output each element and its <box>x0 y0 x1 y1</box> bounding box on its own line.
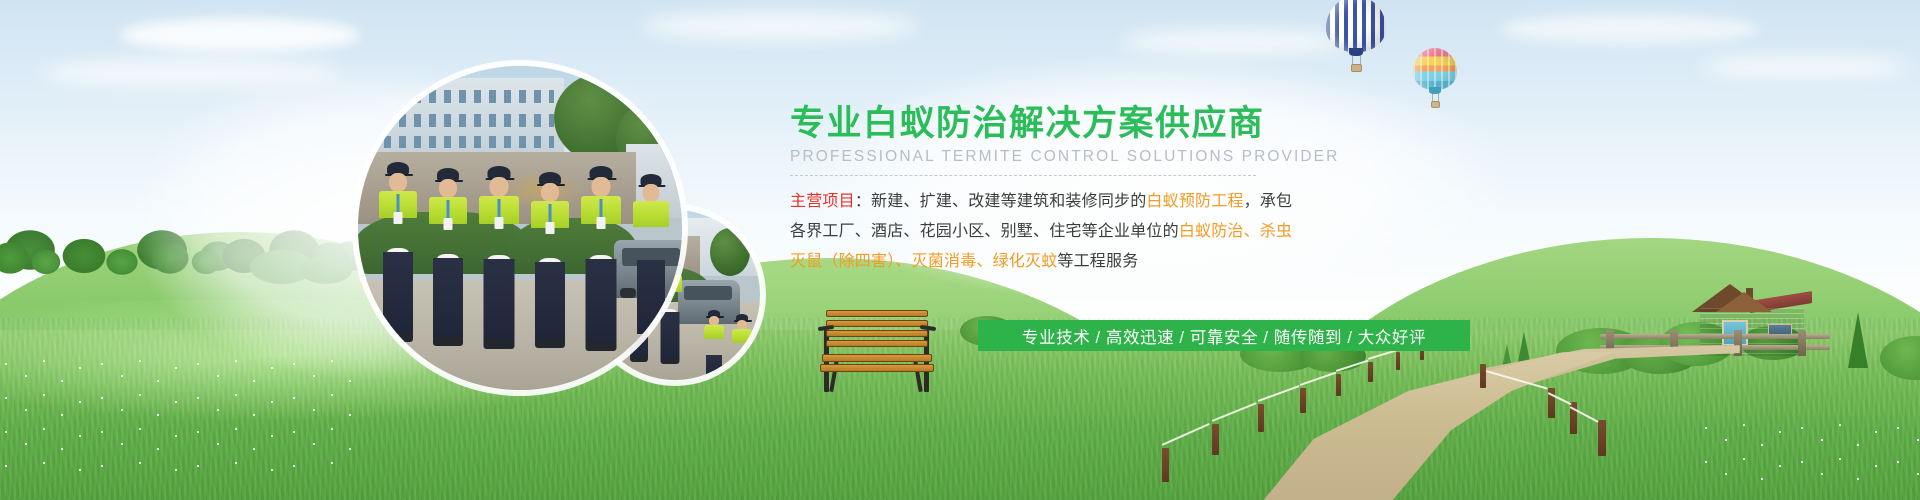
fence-post <box>1336 374 1341 396</box>
bench-backrest-slat <box>826 330 928 337</box>
balloon-envelope <box>1326 0 1386 52</box>
worker-badge <box>394 212 403 224</box>
cloud <box>120 18 360 52</box>
banner-title-cn: 专业白蚁防治解决方案供应商 <box>790 104 1550 143</box>
photo-worker <box>376 162 420 348</box>
worker-face <box>439 179 457 198</box>
description-line-2: 各界工厂、酒店、花园小区、别墅、住宅等企业单位的白蚁防治、杀虫 <box>790 217 1550 247</box>
description-line-3: 灭鼠（除四害）、灭菌消毒、绿化灭蚊等工程服务 <box>790 247 1550 277</box>
cloud <box>40 60 340 86</box>
main-photo-circle <box>358 66 682 390</box>
description-highlight: 白蚁防治、杀虫 <box>1179 223 1292 240</box>
fence-post <box>1480 364 1486 388</box>
worker-badge <box>495 217 504 229</box>
cloud <box>1700 56 1910 78</box>
worker-badge <box>444 218 453 230</box>
description-line-1: 主营项目：新建、扩建、改建等建筑和装修同步的白蚁预防工程，承包 <box>790 187 1550 217</box>
worker-lanyard <box>397 194 400 212</box>
worker-shoes <box>433 336 463 346</box>
photo-worker <box>476 166 522 352</box>
tagline-text: 专业技术 / 高效迅速 / 可靠安全 / 随传随到 / 大众好评 <box>1022 324 1426 348</box>
worker-legs <box>535 262 565 340</box>
worker-face <box>592 177 611 197</box>
fence-post <box>1258 404 1264 432</box>
banner-copy: 专业白蚁防治解决方案供应商 PROFESSIONAL TERMITE CONTR… <box>790 104 1550 277</box>
fence-post <box>1396 352 1400 370</box>
worker-face <box>490 177 509 197</box>
photo-window-row <box>384 136 554 148</box>
photo-tree <box>710 228 750 276</box>
photo-worker-walking <box>730 314 754 380</box>
bench-backrest-slat <box>826 320 928 327</box>
description-text: 等工程服务 <box>1057 253 1138 270</box>
worker-legs <box>637 260 665 334</box>
worker-face <box>643 184 660 202</box>
worker-lanyard <box>600 199 603 217</box>
description-highlight: 白蚁预防工程 <box>1146 193 1243 210</box>
fence-post <box>1212 424 1219 455</box>
fence-post <box>1300 388 1306 413</box>
worker-legs <box>433 258 463 338</box>
worker-face <box>541 183 559 202</box>
worker-vest <box>704 325 724 339</box>
gable <box>1716 292 1772 312</box>
fence-post <box>1798 330 1806 356</box>
worker-badge <box>597 217 606 229</box>
worker-badge <box>546 222 555 234</box>
banner-description: 主营项目：新建、扩建、改建等建筑和装修同步的白蚁预防工程，承包 各界工厂、酒店、… <box>790 187 1550 277</box>
conifer-tree <box>1848 312 1868 368</box>
daisy-field <box>0 356 360 476</box>
worker-vest <box>732 329 752 343</box>
cloud <box>1120 30 1350 54</box>
worker-shoes <box>586 341 617 351</box>
photo-worker <box>578 166 624 354</box>
photo-worker-walking <box>702 310 726 380</box>
worker-lanyard <box>549 204 552 222</box>
cloud <box>1500 14 1760 44</box>
worker-vest <box>633 201 669 227</box>
fence-post <box>1368 362 1373 382</box>
balloon-envelope <box>1413 48 1457 90</box>
tagline-bar[interactable]: 专业技术 / 高效迅速 / 可靠安全 / 随传随到 / 大众好评 <box>978 320 1470 351</box>
description-label: 主营项目 <box>790 193 855 210</box>
balloon-neck <box>1429 87 1441 94</box>
worker-legs <box>383 252 413 334</box>
bench-seat-slat <box>822 354 932 362</box>
description-colon: ： <box>855 193 871 210</box>
description-text: 各界工厂、酒店、花园小区、别墅、住宅等企业单位的 <box>790 223 1179 240</box>
banner-title-en: PROFESSIONAL TERMITE CONTROL SOLUTIONS P… <box>790 148 1550 166</box>
worker-legs <box>706 355 722 379</box>
description-highlight: 灭鼠（除四害）、灭菌消毒、绿化灭蚊 <box>790 253 1057 270</box>
fence-post <box>1598 420 1606 456</box>
bench-backrest-slat <box>826 310 928 317</box>
description-text: 新建、扩建、改建等建筑和装修同步的 <box>871 193 1146 210</box>
shrub <box>300 256 352 284</box>
bench-seat-slat <box>820 364 934 372</box>
worker-shoes <box>383 332 413 342</box>
description-text: ，承包 <box>1244 193 1293 210</box>
daisy-field <box>1700 420 1920 490</box>
divider <box>790 175 1256 176</box>
photo-worker <box>528 172 572 352</box>
photo-worker <box>630 174 672 350</box>
cloud <box>640 12 920 40</box>
worker-face <box>389 173 407 192</box>
worker-legs <box>484 259 515 341</box>
bench-backrest-slat <box>826 340 928 347</box>
worker-shoes <box>484 339 515 349</box>
photo-worker <box>426 168 470 350</box>
worker-shoes <box>535 338 565 348</box>
worker-legs <box>734 359 750 380</box>
photo-window-row <box>384 90 554 103</box>
hero-banner: 专业白蚁防治解决方案供应商 PROFESSIONAL TERMITE CONTR… <box>0 0 1920 500</box>
worker-lanyard <box>498 199 501 217</box>
worker-lanyard <box>447 200 450 218</box>
hot-air-balloon-multicolor <box>1413 48 1457 110</box>
worker-legs <box>586 259 617 343</box>
hot-air-balloon-blue <box>1326 0 1386 74</box>
fence-post <box>1162 448 1169 482</box>
photo-van-window <box>684 286 732 300</box>
park-bench <box>818 308 938 392</box>
photo-window-row <box>384 114 554 127</box>
balloon-basket <box>1351 64 1362 72</box>
fence-rail <box>1600 334 1830 339</box>
